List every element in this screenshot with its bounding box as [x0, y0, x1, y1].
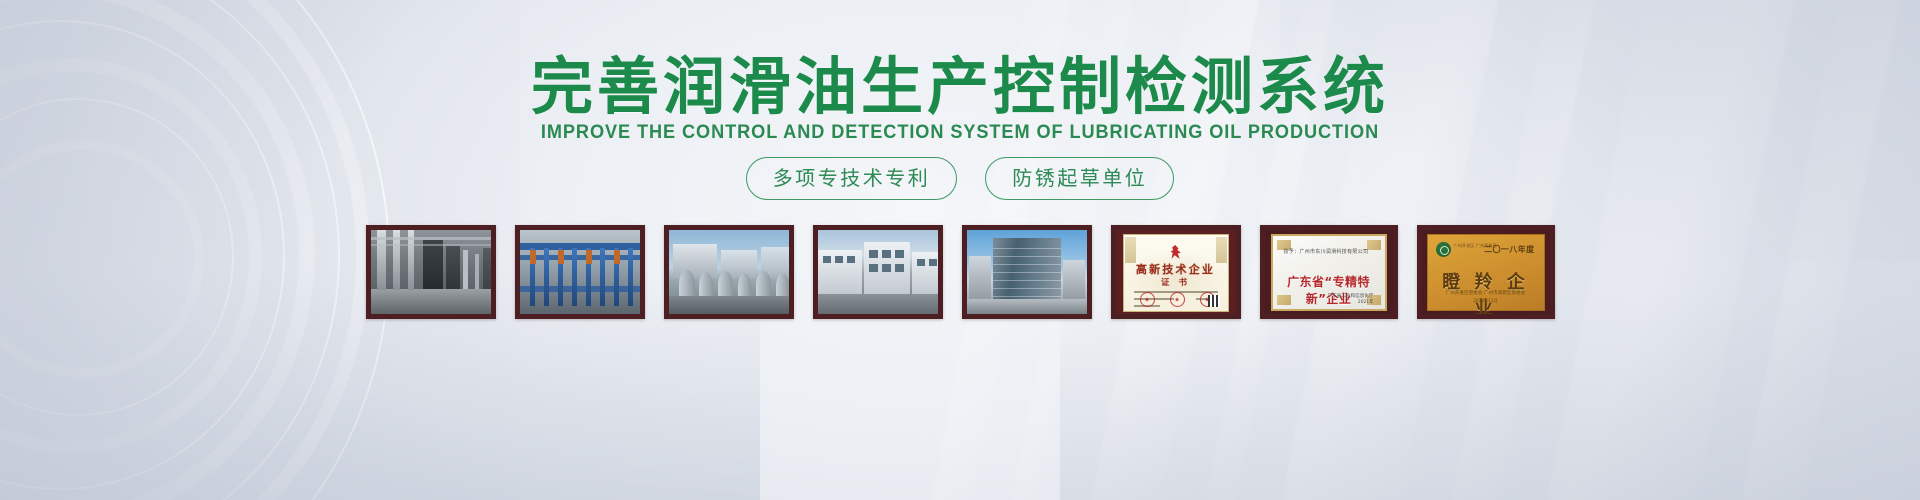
blue-pipe-rack-photo	[520, 230, 640, 314]
factory-corridor-photo	[371, 230, 491, 314]
plaque-panel: 授予：广州市东川润滑科技有限公司 广东省“专精特新”企业 广东省工业和信息化厅 …	[1271, 234, 1387, 311]
plaque-prefix: 授予：广州市东川润滑科技有限公司	[1284, 248, 1369, 255]
plant-storage-tanks-photo	[669, 230, 789, 314]
flame-icon	[1169, 245, 1183, 259]
gallery-item-plant-storage-tanks-photo[interactable]	[664, 225, 794, 319]
gallery-item-specialized-new-enterprise-plaque[interactable]: 授予：广州市东川润滑科技有限公司 广东省“专精特新”企业 广东省工业和信息化厅 …	[1260, 225, 1398, 319]
plaque-date: 2018年12月	[1428, 298, 1544, 304]
badge-patents[interactable]: 多项专技术专利	[746, 157, 958, 200]
gallery-item-white-industrial-building-photo[interactable]	[813, 225, 943, 319]
promotional-banner: 完善润滑油生产控制检测系统 IMPROVE THE CONTROL AND DE…	[0, 0, 1920, 500]
gallery-item-high-tech-enterprise-certificate[interactable]: 高新技术企业 证 书	[1111, 225, 1241, 319]
gallery-item-office-tower-photo[interactable]	[962, 225, 1092, 319]
badge-row: 多项专技术专利 防锈起草单位	[0, 157, 1920, 200]
gallery-item-gazelle-enterprise-plaque[interactable]: 广州开发区 广州高新区 二〇一八年度 瞪 羚 企 业 广州开发区管委会 广州市高…	[1417, 225, 1555, 319]
banner-title: 完善润滑油生产控制检测系统	[0, 52, 1920, 122]
certificate-title: 高新技术企业	[1124, 261, 1228, 277]
official-seal-2	[1170, 292, 1185, 307]
plaque-date: 2021年	[1358, 299, 1374, 305]
gallery-item-factory-corridor-photo[interactable]	[366, 225, 496, 319]
qr-code-icon	[1208, 295, 1220, 307]
gallery-item-blue-pipe-rack-photo[interactable]	[515, 225, 645, 319]
badge-antirust-standard[interactable]: 防锈起草单位	[985, 157, 1174, 200]
gold-plaque-panel: 广州开发区 广州高新区 二〇一八年度 瞪 羚 企 业 广州开发区管委会 广州市高…	[1427, 234, 1545, 311]
white-industrial-building-photo	[818, 230, 938, 314]
credential-gallery: 高新技术企业 证 书	[0, 225, 1920, 319]
plaque-issuer: 广州开发区管委会 广州市高新区管委会	[1428, 290, 1544, 296]
development-zone-logo-icon	[1436, 242, 1451, 257]
office-tower-photo	[967, 230, 1087, 314]
official-seal-1	[1140, 292, 1155, 307]
banner-subtitle: IMPROVE THE CONTROL AND DETECTION SYSTEM…	[67, 120, 1853, 144]
plaque-year: 二〇一八年度	[1484, 244, 1534, 255]
certificate-subtitle: 证 书	[1124, 276, 1228, 288]
certificate-paper: 高新技术企业 证 书	[1123, 234, 1229, 312]
